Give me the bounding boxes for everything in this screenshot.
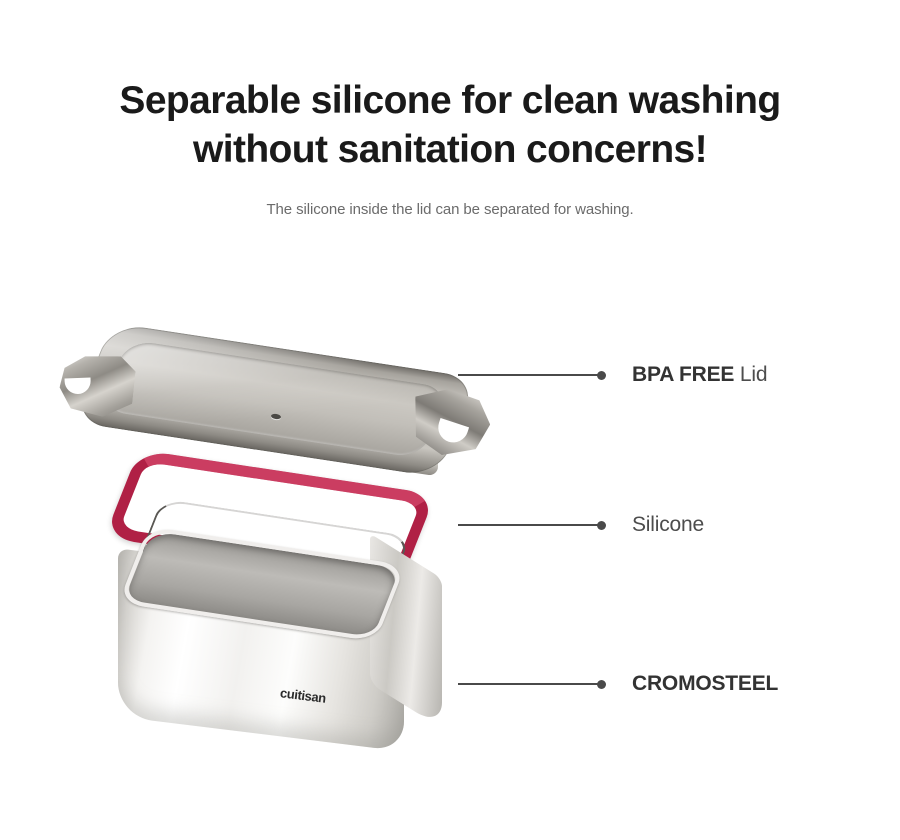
- callout-dot-icon: [597, 371, 606, 380]
- callout-bpa-free-lid: BPA FREE Lid: [458, 363, 767, 387]
- callout-leader-line: [458, 524, 598, 526]
- callout-leader-line: [458, 683, 598, 685]
- callout-dot-icon: [597, 680, 606, 689]
- callout-label-strong: CROMOSTEEL: [632, 672, 778, 695]
- callout-label-light: Lid: [734, 363, 767, 386]
- callout-label: BPA FREE Lid: [632, 363, 767, 387]
- callout-leader-line: [458, 374, 598, 376]
- callout-label: Silicone: [632, 513, 704, 537]
- page-subtitle: The silicone inside the lid can be separ…: [0, 174, 900, 218]
- page-title: Separable silicone for clean washing wit…: [0, 0, 900, 174]
- callout-label-light: Silicone: [632, 513, 704, 536]
- headline-line-2: without sanitation concerns!: [0, 125, 900, 174]
- lid-latch-left: [57, 350, 137, 419]
- callout-dot-icon: [597, 521, 606, 530]
- callout-silicone: Silicone: [458, 513, 704, 537]
- headline-line-1: Separable silicone for clean washing: [0, 76, 900, 125]
- product-part-steel-container: cuitisan: [118, 548, 458, 748]
- header: Separable silicone for clean washing wit…: [0, 0, 900, 218]
- callout-cromosteel: CROMOSTEEL: [458, 672, 778, 696]
- callout-label-strong: BPA FREE: [632, 363, 734, 386]
- callout-label: CROMOSTEEL: [632, 672, 778, 696]
- lid-latch-right: [408, 385, 494, 461]
